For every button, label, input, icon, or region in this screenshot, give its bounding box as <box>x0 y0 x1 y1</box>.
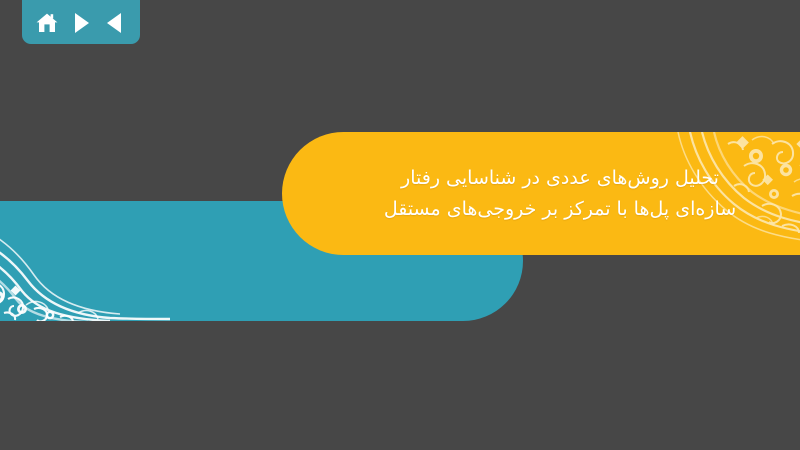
title-line-1: تحلیل روش‌های عددی در شناسایی رفتار <box>401 163 719 194</box>
triangle-right-icon <box>71 12 91 34</box>
forward-button[interactable] <box>68 10 94 36</box>
orange-banner: تحلیل روش‌های عددی در شناسایی رفتار سازه… <box>282 132 800 255</box>
back-button[interactable] <box>102 10 128 36</box>
slide-viewer: تحلیل روش‌های عددی در شناسایی رفتار سازه… <box>0 0 800 450</box>
home-button[interactable] <box>34 10 60 36</box>
navigation-bar <box>22 0 140 44</box>
arabesque-corner-ornament-orange <box>652 132 800 255</box>
title-line-2: سازه‌ای پل‌ها با تمرکز بر خروجی‌های مستق… <box>384 194 736 225</box>
slide-title: تحلیل روش‌های عددی در شناسایی رفتار سازه… <box>340 132 780 255</box>
home-icon <box>35 11 59 35</box>
triangle-left-icon <box>105 12 125 34</box>
arabesque-corner-ornament-teal <box>0 201 170 321</box>
